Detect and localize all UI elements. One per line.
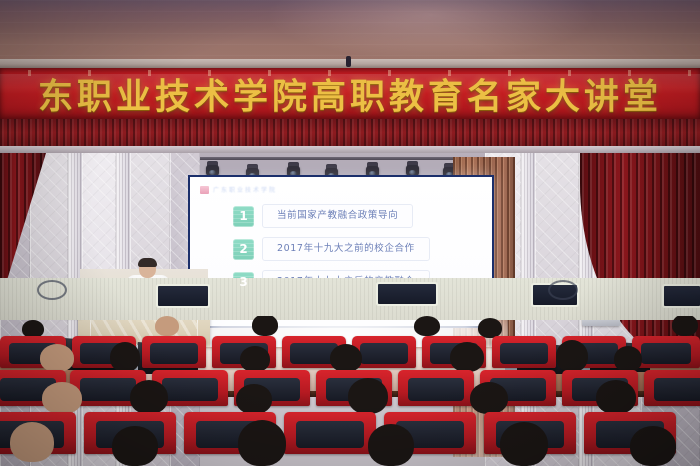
audience-head [155, 316, 179, 336]
list-item: 1 当前国家产教融合政策导向 [233, 205, 492, 227]
audience-head [470, 382, 508, 414]
audience-head [330, 344, 362, 372]
audience-wall [0, 278, 700, 320]
speaker-hair [138, 258, 157, 267]
ceiling-light-glow [266, 0, 596, 60]
ceiling [0, 0, 700, 62]
slide-logo-text: 广东职业技术学院 [213, 185, 277, 194]
agenda-number-badge: 2 [233, 239, 254, 260]
wall-dark-panel [158, 286, 208, 306]
audience-head [10, 422, 54, 462]
audience-head [556, 340, 588, 372]
university-emblem-icon [200, 186, 209, 194]
audience-head [596, 380, 636, 414]
audience-head [368, 424, 414, 466]
audience-head [252, 316, 278, 336]
agenda-number: 2 [239, 242, 247, 256]
wall-fixture-icon [37, 280, 67, 300]
audience-area [0, 316, 700, 466]
slide-logo: 广东职业技术学院 [200, 185, 277, 194]
audience-head [238, 420, 286, 466]
seat [352, 336, 416, 368]
wall-dark-panel [378, 284, 436, 304]
audience-head [630, 426, 676, 466]
seat [644, 370, 700, 406]
audience-head [500, 422, 548, 466]
seat [632, 336, 700, 368]
audience-head [672, 316, 698, 336]
agenda-number-badge: 1 [233, 206, 254, 227]
audience-head [478, 318, 502, 338]
event-banner-text: 东职业技术学院高职教育名家大讲堂 [38, 68, 662, 119]
agenda-number: 3 [239, 275, 247, 289]
event-banner: 东职业技术学院高职教育名家大讲堂 [0, 68, 700, 119]
wall-texture [0, 278, 700, 320]
hanging-microphone-icon [346, 56, 351, 67]
audience-head [614, 346, 642, 372]
seat [284, 412, 376, 454]
audience-head [40, 344, 74, 372]
audience-head [236, 384, 272, 414]
seat [398, 370, 474, 406]
audience-head [240, 346, 270, 372]
seat [142, 336, 206, 368]
lecture-hall-photo: 东职业技术学院高职教育名家大讲堂 [0, 0, 700, 466]
stage-spotlight-icon [206, 161, 219, 176]
agenda-number: 1 [239, 209, 247, 223]
wall-fixture-icon [548, 280, 578, 300]
audience-head [414, 316, 440, 336]
audience-head [348, 378, 388, 414]
list-item: 2 2017年十九大之前的校企合作 [233, 238, 492, 260]
agenda-item-text: 当前国家产教融合政策导向 [262, 204, 413, 228]
audience-head [130, 380, 168, 414]
audience-head [42, 382, 82, 414]
audience-head [450, 342, 484, 372]
seat [492, 336, 556, 368]
wall-dark-panel [664, 286, 700, 306]
agenda-item-text: 2017年十九大之前的校企合作 [262, 237, 430, 261]
stage-spotlight-icon [406, 161, 419, 176]
audience-head [110, 342, 140, 372]
audience-head [112, 426, 158, 466]
